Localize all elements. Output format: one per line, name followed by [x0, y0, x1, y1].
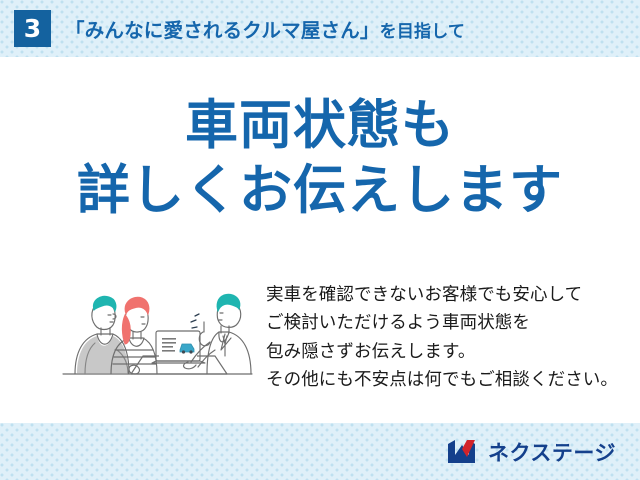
woman-hair — [125, 297, 149, 314]
headline-line-2: 詳しくお伝えします — [0, 161, 640, 220]
woman-hair-long — [122, 315, 130, 344]
speech-effect-lines — [191, 314, 199, 328]
body-copy-line-2: ご検討いただけるよう車両状態を — [266, 308, 618, 336]
body-copy: 実車を確認できないお客様でも安心して ご検討いただけるよう車両状態を 包み隠さず… — [266, 280, 618, 393]
staff-hair — [217, 294, 240, 311]
header: 3 「みんなに愛されるクルマ屋さん」を目指して — [0, 0, 640, 57]
step-number-badge: 3 — [14, 10, 51, 47]
body-copy-line-1: 実車を確認できないお客様でも安心して — [266, 280, 618, 308]
n-logo-icon — [447, 439, 481, 464]
brand-name: ネクステージ — [488, 437, 616, 467]
headline: 車両状態も 詳しくお伝えします — [0, 96, 640, 221]
page-title: 「みんなに愛されるクルマ屋さん」を目指して — [65, 14, 465, 43]
brand-logo: ネクステージ — [447, 437, 616, 467]
promo-banner: 3 「みんなに愛されるクルマ屋さん」を目指して 車両状態も 詳しくお伝えします — [0, 0, 640, 480]
body-copy-line-4: その他にも不安点は何でもご相談ください。 — [266, 365, 618, 393]
footer: ネクステージ — [0, 423, 640, 480]
man-hair — [93, 296, 115, 311]
headline-line-1: 車両状態も — [0, 96, 640, 155]
page-title-tail: を目指して — [380, 22, 466, 41]
page-title-quoted: 「みんなに愛されるクルマ屋さん」 — [65, 20, 380, 42]
body-copy-line-3: 包み隠さずお伝えします。 — [266, 337, 618, 365]
content-row: 実車を確認できないお客様でも安心して ご検討いただけるよう車両状態を 包み隠さず… — [0, 270, 640, 400]
consultation-illustration — [55, 270, 260, 390]
